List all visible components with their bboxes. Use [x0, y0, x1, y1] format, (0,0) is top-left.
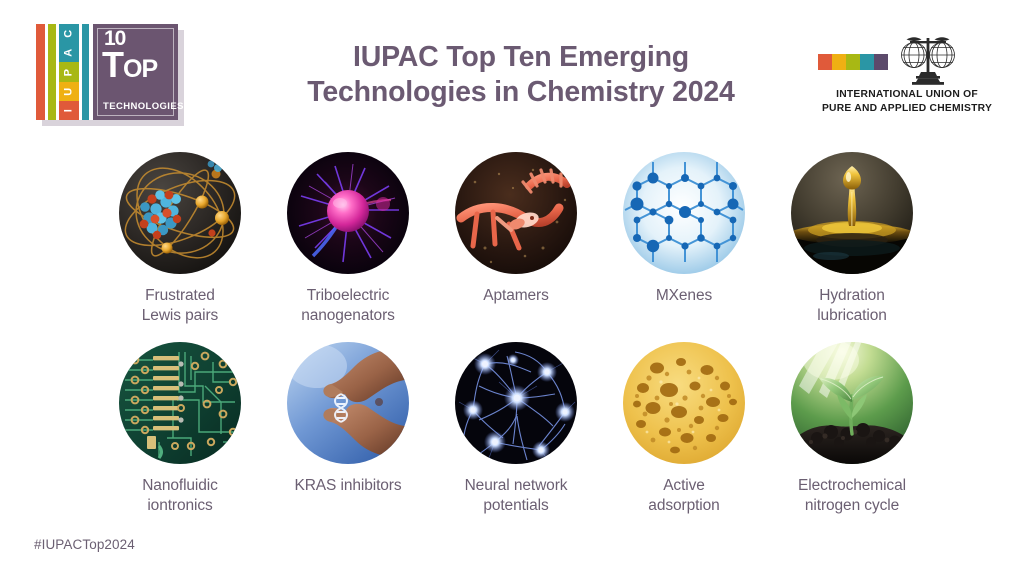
iupac-logo-caption-line-2: PURE AND APPLIED CHEMISTRY — [818, 102, 996, 116]
tech-label-triboelectric-nanogenators: Triboelectric nanogenators — [264, 286, 432, 325]
swatch-teal — [860, 54, 874, 70]
badge-word-top-rest: OP — [123, 55, 157, 83]
plasma-ball-image — [287, 152, 409, 274]
iupac-organization-logo: INTERNATIONAL UNION OF PURE AND APPLIED … — [818, 32, 996, 114]
tech-item-neural-network-potentials[interactable]: Neural network potentials — [432, 342, 600, 532]
page-title-line-2: Technologies in Chemistry 2024 — [232, 75, 810, 110]
badge-letter-c: C — [59, 24, 79, 43]
molecular-cluster-orbitals-image — [119, 152, 241, 274]
oil-droplet-image — [791, 152, 913, 274]
swatch-red-orange — [818, 54, 832, 70]
technologies-grid: Frustrated Lewis pairs — [96, 152, 936, 532]
swatch-amber — [832, 54, 846, 70]
badge-stripe-orange — [36, 24, 45, 120]
badge-letter-p: P — [59, 62, 79, 81]
tech-label-line-1: Frustrated — [96, 286, 264, 306]
hexagonal-lattice-image — [623, 152, 745, 274]
badge-letter-c-text: C — [63, 29, 74, 37]
tech-label-line-1: Electrochemical — [768, 476, 936, 496]
badge-word-top-lead: T — [102, 44, 123, 85]
iupac-color-swatches — [818, 54, 888, 70]
tech-label-line-1: Nanofluidic — [96, 476, 264, 496]
badge-inner: C A P U I 10 TOP TECHNOLOGIES — [36, 24, 178, 120]
tech-label-line-1: Hydration — [768, 286, 936, 306]
rna-strand-image — [455, 152, 577, 274]
hashtag-label: #IUPACTop2024 — [34, 537, 135, 552]
iupac-top-ten-badge-logo: C A P U I 10 TOP TECHNOLOGIES — [36, 24, 184, 124]
badge-iupac-letter-column: C A P U I — [59, 24, 79, 120]
hands-holding-dna-image — [287, 342, 409, 464]
tech-label-line-1: Active — [600, 476, 768, 496]
tech-label-aptamers: Aptamers — [432, 286, 600, 306]
badge-stripe-teal — [82, 24, 89, 120]
tech-item-active-adsorption[interactable]: Active adsorption — [600, 342, 768, 532]
tech-label-electrochemical-nitrogen-cycle: Electrochemical nitrogen cycle — [768, 476, 936, 515]
tech-item-frustrated-lewis-pairs[interactable]: Frustrated Lewis pairs — [96, 152, 264, 342]
tech-label-frustrated-lewis-pairs: Frustrated Lewis pairs — [96, 286, 264, 325]
technologies-row-2: Nanofluidic iontronics — [96, 342, 936, 532]
badge-letter-i-text: I — [64, 109, 75, 113]
swatch-yellow-green — [846, 54, 860, 70]
tech-label-line-1: Triboelectric — [264, 286, 432, 306]
badge-letter-u-text: U — [63, 87, 74, 95]
page-title: IUPAC Top Ten Emerging Technologies in C… — [232, 40, 810, 110]
badge-letter-i: I — [59, 101, 79, 120]
badge-technologies-text: TECHNOLOGIES — [103, 102, 184, 112]
tech-label-nanofluidic-iontronics: Nanofluidic iontronics — [96, 476, 264, 515]
iupac-logo-caption: INTERNATIONAL UNION OF PURE AND APPLIED … — [818, 88, 996, 116]
swatch-purple — [874, 54, 888, 70]
badge-letter-a-text: A — [63, 49, 74, 57]
tech-item-nanofluidic-iontronics[interactable]: Nanofluidic iontronics — [96, 342, 264, 532]
tech-label-mxenes: MXenes — [600, 286, 768, 306]
seedling-in-soil-image — [791, 342, 913, 464]
infographic-page: C A P U I 10 TOP TECHNOLOGIES IU — [0, 0, 1024, 576]
tech-label-line-1: Aptamers — [432, 286, 600, 306]
porous-sponge-image — [623, 342, 745, 464]
tech-label-line-2: adsorption — [600, 496, 768, 516]
tech-item-hydration-lubrication[interactable]: Hydration lubrication — [768, 152, 936, 342]
tech-item-kras-inhibitors[interactable]: KRAS inhibitors — [264, 342, 432, 532]
tech-label-active-adsorption: Active adsorption — [600, 476, 768, 515]
tech-label-line-2: Lewis pairs — [96, 306, 264, 326]
tech-label-line-2: nitrogen cycle — [768, 496, 936, 516]
tech-label-line-2: nanogenators — [264, 306, 432, 326]
tech-label-line-1: Neural network — [432, 476, 600, 496]
badge-word-top: TOP — [102, 47, 157, 83]
page-title-line-1: IUPAC Top Ten Emerging — [232, 40, 810, 75]
badge-letter-p-text: P — [64, 68, 75, 76]
tech-item-triboelectric-nanogenators[interactable]: Triboelectric nanogenators — [264, 152, 432, 342]
badge-letter-u: U — [59, 82, 79, 101]
tech-label-kras-inhibitors: KRAS inhibitors — [264, 476, 432, 496]
badge-purple-panel: 10 TOP TECHNOLOGIES — [93, 24, 178, 120]
tech-label-neural-network-potentials: Neural network potentials — [432, 476, 600, 515]
tech-label-line-2: iontronics — [96, 496, 264, 516]
tech-label-hydration-lubrication: Hydration lubrication — [768, 286, 936, 325]
tech-item-electrochemical-nitrogen-cycle[interactable]: Electrochemical nitrogen cycle — [768, 342, 936, 532]
circuit-board-image — [119, 342, 241, 464]
tech-item-aptamers[interactable]: Aptamers — [432, 152, 600, 342]
tech-label-line-1: MXenes — [600, 286, 768, 306]
iupac-logo-caption-line-1: INTERNATIONAL UNION OF — [818, 88, 996, 102]
badge-stripe-green — [48, 24, 56, 120]
header: C A P U I 10 TOP TECHNOLOGIES IU — [0, 0, 1024, 140]
badge-letter-a: A — [59, 43, 79, 62]
tech-item-mxenes[interactable]: MXenes — [600, 152, 768, 342]
iupac-globe-balance-emblem — [896, 32, 960, 88]
tech-label-line-2: lubrication — [768, 306, 936, 326]
tech-label-line-2: potentials — [432, 496, 600, 516]
technologies-row-1: Frustrated Lewis pairs — [96, 152, 936, 342]
tech-label-line-1: KRAS inhibitors — [264, 476, 432, 496]
neuron-network-image — [455, 342, 577, 464]
